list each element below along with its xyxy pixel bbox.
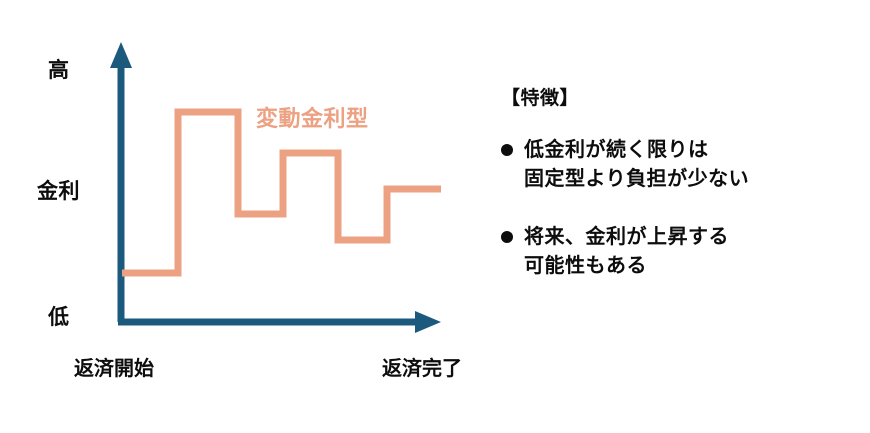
- feature-item: 将来、金利が上昇する 可能性もある: [501, 223, 729, 281]
- feature-line: 低金利が続く限りは: [524, 136, 749, 165]
- feature-text: 低金利が続く限りは 固定型より負担が少ない: [524, 136, 749, 194]
- y-axis-arrowhead-icon: [110, 42, 132, 68]
- feature-item: 低金利が続く限りは 固定型より負担が少ない: [501, 136, 749, 194]
- y-axis-label-low: 低: [48, 301, 70, 331]
- slide-root: 高 金利 低 返済開始 返済完了 変動金利型 【特徴】 低金利が続く限りは 固定…: [0, 0, 870, 433]
- x-axis-arrowhead-icon: [415, 311, 441, 333]
- x-axis: [118, 311, 441, 333]
- x-axis-label-repayment-start: 返済開始: [74, 352, 154, 381]
- bullet-dot-icon: [501, 231, 513, 243]
- x-axis-label-repayment-complete: 返済完了: [382, 352, 462, 381]
- y-axis-label-high: 高: [48, 54, 70, 84]
- feature-line: 可能性もある: [524, 252, 729, 281]
- feature-line: 将来、金利が上昇する: [524, 223, 729, 252]
- variable-rate-step-line: [122, 112, 441, 273]
- feature-line: 固定型より負担が少ない: [524, 165, 749, 194]
- features-heading: 【特徴】: [501, 83, 579, 110]
- bullet-dot-icon: [501, 144, 513, 156]
- series-label-variable-rate: 変動金利型: [256, 101, 369, 133]
- y-axis-label-rate: 金利: [37, 175, 80, 205]
- y-axis: [110, 42, 132, 322]
- variable-rate-chart: 高 金利 低 返済開始 返済完了 変動金利型: [0, 0, 490, 433]
- feature-text: 将来、金利が上昇する 可能性もある: [524, 223, 729, 281]
- features-panel: 【特徴】 低金利が続く限りは 固定型より負担が少ない 将来、金利が上昇する 可能…: [496, 0, 870, 433]
